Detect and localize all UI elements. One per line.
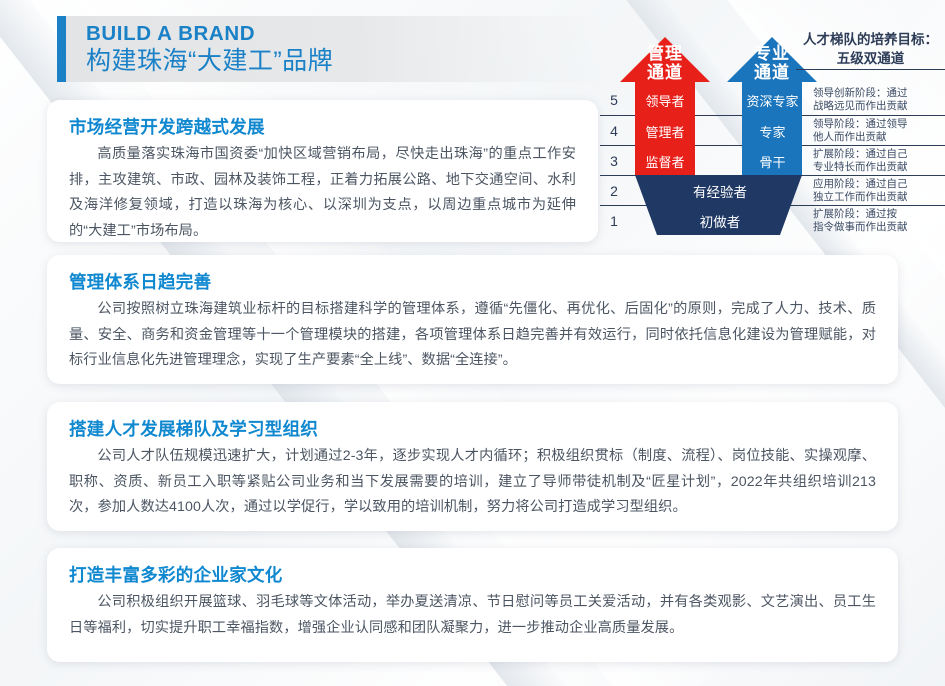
talent-ladder-diagram: 人才梯队的培养目标： 五级双通道 管理 通道 专业 通道 5 领导者 资深专家 … [600,30,945,235]
level-description: 领导创新阶段：通过 战略远见而作出贡献 [813,85,945,115]
management-channel-label-line2: 通道 [635,63,695,82]
content-card: 市场经营开发跨越式发展 高质量落实珠海市国资委“加快区域营销布局，尽快走出珠海”… [47,100,598,242]
level-professional-role: 专家 [735,116,810,146]
level-number: 2 [600,176,628,206]
diagram-levels: 5 领导者 资深专家 领导创新阶段：通过 战略远见而作出贡献 4 管理者 专家 … [600,85,945,235]
card-heading: 市场经营开发跨越式发展 [69,114,576,140]
level-combined-role: 初做者 [630,206,810,236]
level-professional-role: 骨干 [735,146,810,176]
management-channel-label: 管理 通道 [635,44,695,82]
card-body: 公司按照树立珠海建筑业标杆的目标搭建科学的管理体系，遵循“先僵化、再优化、后固化… [69,297,876,374]
diagram-title: 人才梯队的培养目标： 五级双通道 [796,30,945,70]
card-heading: 打造丰富多彩的企业家文化 [69,562,876,588]
level-professional-role: 资深专家 [735,85,810,115]
header-accent-bar [57,16,66,82]
level-description-line2: 专业特长而作出贡献 [813,161,945,174]
header-english-title: BUILD A BRAND [86,23,333,45]
level-description-line2: 独立工作而作出贡献 [813,191,945,204]
level-number: 3 [600,146,628,176]
diagram-title-line2: 五级双通道 [796,49,945,70]
diagram-level-row: 1 初做者 扩展阶段：通过按 指令做事而作出贡献 [600,205,945,235]
level-management-role: 管理者 [630,116,700,146]
card-body: 公司积极组织开展篮球、羽毛球等文体活动，举办夏送清凉、节日慰问等员工关爱活动，并… [69,590,876,641]
content-card: 打造丰富多彩的企业家文化 公司积极组织开展篮球、羽毛球等文体活动，举办夏送清凉、… [47,548,898,662]
level-description: 领导阶段：通过领导 他人而作出贡献 [813,116,945,146]
level-number: 5 [600,85,628,115]
level-management-role: 领导者 [630,85,700,115]
content-card: 管理体系日趋完善 公司按照树立珠海建筑业标杆的目标搭建科学的管理体系，遵循“先僵… [47,255,898,384]
level-combined-role: 有经验者 [630,176,810,206]
level-description-line1: 领导阶段：通过领导 [813,118,945,131]
level-description: 扩展阶段：通过自己 专业特长而作出贡献 [813,146,945,176]
management-channel-label-line1: 管理 [635,44,695,63]
professional-channel-label-line2: 通道 [742,63,802,82]
level-number: 4 [600,116,628,146]
level-description-line1: 扩展阶段：通过自己 [813,148,945,161]
card-body: 高质量落实珠海市国资委“加快区域营销布局，尽快走出珠海”的重点工作安排，主攻建筑… [69,142,576,244]
header-chinese-title: 构建珠海“大建工”品牌 [86,46,333,76]
level-number: 1 [600,206,628,236]
level-description: 应用阶段：通过自己 独立工作而作出贡献 [813,176,945,206]
diagram-level-row: 2 有经验者 应用阶段：通过自己 独立工作而作出贡献 [600,175,945,205]
level-description-line2: 指令做事而作出贡献 [813,221,945,234]
level-description: 扩展阶段：通过按 指令做事而作出贡献 [813,206,945,236]
page-header: BUILD A BRAND 构建珠海“大建工”品牌 [57,16,602,82]
diagram-level-row: 4 管理者 专家 领导阶段：通过领导 他人而作出贡献 [600,115,945,145]
diagram-title-line1: 人才梯队的培养目标： [796,30,945,49]
professional-channel-label: 专业 通道 [742,44,802,82]
diagram-level-row: 5 领导者 资深专家 领导创新阶段：通过 战略远见而作出贡献 [600,85,945,115]
level-description-line1: 扩展阶段：通过按 [813,208,945,221]
level-description-line1: 应用阶段：通过自己 [813,178,945,191]
level-description-line2: 战略远见而作出贡献 [813,100,945,113]
level-description-line2: 他人而作出贡献 [813,131,945,144]
card-heading: 管理体系日趋完善 [69,269,876,295]
professional-channel-label-line1: 专业 [742,44,802,63]
content-card: 搭建人才发展梯队及学习型组织 公司人才队伍规模迅速扩大，计划通过2-3年，逐步实… [47,402,898,531]
card-heading: 搭建人才发展梯队及学习型组织 [69,416,876,442]
diagram-level-row: 3 监督者 骨干 扩展阶段：通过自己 专业特长而作出贡献 [600,145,945,175]
level-description-line1: 领导创新阶段：通过 [813,87,945,100]
card-body: 公司人才队伍规模迅速扩大，计划通过2-3年，逐步实现人才内循环；积极组织贯标（制… [69,444,876,521]
level-management-role: 监督者 [630,146,700,176]
